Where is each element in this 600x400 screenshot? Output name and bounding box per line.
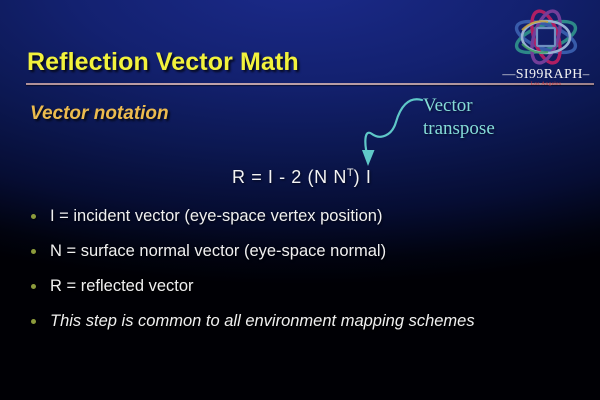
list-item: N = surface normal vector (eye-space nor… — [24, 234, 584, 269]
list-item: I = incident vector (eye-space vertex po… — [24, 199, 584, 234]
annotation-line-1: Vector — [423, 94, 495, 117]
annotation-vector-transpose: Vector transpose — [423, 94, 495, 140]
siggraph-rings-icon — [504, 6, 588, 68]
list-item-label: R = reflected vector — [50, 277, 194, 296]
curved-arrow-icon — [352, 92, 430, 174]
list-item-label: This step is common to all environment m… — [50, 312, 475, 331]
wordmark-text: SI99RAPH — [516, 67, 583, 82]
section-subheading: Vector notation — [30, 103, 169, 125]
list-item-label: N = surface normal vector (eye-space nor… — [50, 242, 386, 261]
formula-prefix: R = I - 2 (N N — [232, 167, 347, 187]
slide-canvas: Reflection Vector Math Vector notation R… — [0, 0, 600, 400]
bullet-dot-icon — [31, 319, 36, 324]
bullet-dot-icon — [31, 214, 36, 219]
bullet-dot-icon — [31, 249, 36, 254]
reflection-formula: R = I - 2 (N NT) I — [232, 167, 371, 188]
siggraph-logo: —SI99RAPH– Los Angeles — [496, 6, 596, 92]
bullet-list: I = incident vector (eye-space vertex po… — [24, 199, 584, 339]
bullet-dot-icon — [31, 284, 36, 289]
list-item-label: I = incident vector (eye-space vertex po… — [50, 207, 382, 226]
annotation-line-2: transpose — [423, 117, 495, 140]
wordmark-dash-right: – — [583, 66, 590, 81]
page-title: Reflection Vector Math — [27, 48, 299, 77]
list-item: R = reflected vector — [24, 269, 584, 304]
wordmark-dash-left: — — [502, 66, 515, 81]
siggraph-city-label: Los Angeles — [496, 81, 596, 87]
list-item: This step is common to all environment m… — [24, 304, 584, 339]
